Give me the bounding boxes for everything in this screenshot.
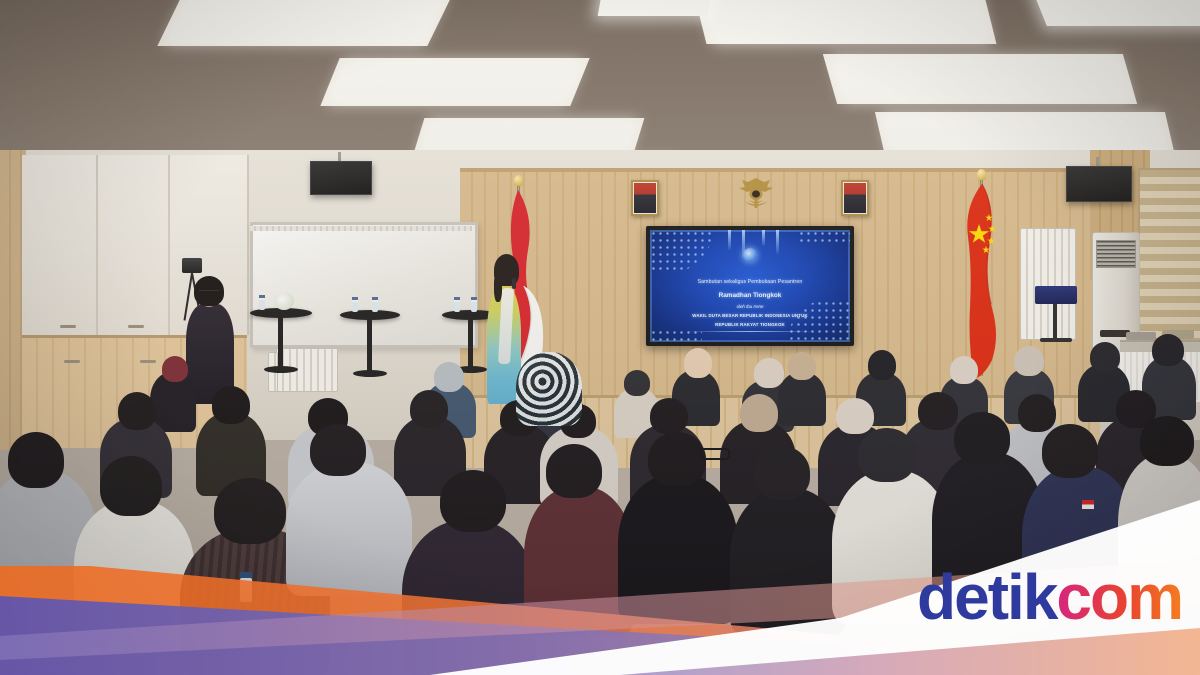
screen-text-line-2: Ramadhan Tiongkok xyxy=(650,292,850,299)
portrait-frame-left xyxy=(631,180,659,216)
screen-text-line-3: oleh Ibu Irene xyxy=(650,304,850,309)
bottle-cap xyxy=(372,297,378,300)
audience-head xyxy=(858,428,916,482)
audience-member xyxy=(402,520,536,675)
audience-head xyxy=(410,390,448,428)
audience-head xyxy=(310,424,366,476)
whiteboard[interactable] xyxy=(250,222,478,348)
cocktail-table-base xyxy=(353,370,387,377)
audience-head xyxy=(1090,342,1120,372)
water-bottle xyxy=(352,299,358,312)
ac-grille-icon xyxy=(1096,240,1136,268)
audience-head xyxy=(648,432,706,486)
audience-head xyxy=(212,386,250,424)
flagpole-finial xyxy=(514,175,523,186)
portrait-photo xyxy=(633,182,657,214)
cocktail-table-stem xyxy=(468,318,473,368)
cabinet-handle[interactable] xyxy=(64,360,80,363)
presentation-screen-bezel[interactable]: Sambutan sekaligus Pembukaan Pesantren R… xyxy=(646,226,854,346)
cabinet-handle[interactable] xyxy=(128,325,144,328)
audience-head xyxy=(754,446,810,500)
lantern-icon xyxy=(776,230,779,254)
audience-head xyxy=(162,356,188,382)
bottle-cap xyxy=(259,295,265,298)
glasses-icon xyxy=(458,508,492,520)
ceiling-light-panel xyxy=(170,0,440,40)
patterned-hijab xyxy=(516,352,582,426)
ceiling-light-panel xyxy=(837,60,1128,98)
flag-china xyxy=(962,184,1010,379)
ceiling-light-panel xyxy=(707,0,987,40)
audience-head xyxy=(100,456,162,516)
audience-member xyxy=(778,372,826,426)
audience-head xyxy=(1018,394,1056,432)
audience-head xyxy=(546,444,602,498)
audience-member xyxy=(730,488,846,636)
audience-head xyxy=(684,348,712,378)
radiator xyxy=(1020,228,1076,340)
display-stand xyxy=(1035,286,1077,304)
detikcom-logo: detikcom xyxy=(917,565,1182,629)
screen-divider xyxy=(686,331,814,332)
audience-head xyxy=(118,392,156,430)
audience-head xyxy=(1140,416,1194,466)
glasses-icon xyxy=(700,448,730,460)
audience-head xyxy=(954,412,1010,464)
flag-pin-icon xyxy=(1082,500,1094,509)
bottle-cap xyxy=(471,297,477,300)
audience-head xyxy=(1152,334,1184,366)
audience-head xyxy=(1014,346,1044,376)
ceiling-light-panel xyxy=(333,64,578,100)
water-bottle xyxy=(454,299,460,312)
bottle-cap xyxy=(240,572,252,578)
logo-text-com: com xyxy=(1056,565,1182,629)
audience-member xyxy=(74,500,194,640)
ceiling-speaker-icon xyxy=(1066,166,1132,202)
cabinet-handle[interactable] xyxy=(60,325,76,328)
audience-member xyxy=(286,462,412,596)
food-tray xyxy=(1126,332,1156,340)
presentation-screen[interactable]: Sambutan sekaligus Pembukaan Pesantren R… xyxy=(650,230,850,342)
cabinet-seam xyxy=(96,155,98,335)
screen-text-line-1: Sambutan sekaligus Pembukaan Pesantren xyxy=(650,279,850,285)
photo-canvas: Sambutan sekaligus Pembukaan Pesantren R… xyxy=(0,0,1200,675)
cabinet-seam xyxy=(168,155,170,335)
crescent-moon-icon xyxy=(743,248,757,262)
cocktail-table-base xyxy=(264,366,298,373)
bottle-cap xyxy=(352,297,358,300)
water-bottle xyxy=(240,578,252,602)
flagpole-finial xyxy=(977,169,986,180)
microphone-icon xyxy=(512,278,516,289)
display-stand-stem xyxy=(1053,304,1057,340)
glasses-icon xyxy=(199,290,219,295)
flower-decor xyxy=(274,292,294,310)
logo-text-detik: detik xyxy=(917,565,1056,629)
water-bottle xyxy=(372,299,378,312)
audience-head xyxy=(788,352,816,380)
audience-head xyxy=(434,362,464,392)
ceiling-light-panel xyxy=(886,118,1163,150)
bottle-cap xyxy=(454,297,460,300)
lantern-icon xyxy=(762,230,765,246)
portrait-frame-right xyxy=(841,180,869,216)
audience-head xyxy=(1042,424,1098,478)
ceiling-speaker-icon xyxy=(310,161,372,195)
cabinet-handle[interactable] xyxy=(140,360,156,363)
audience-head xyxy=(740,394,778,432)
garuda-pancasila-emblem xyxy=(736,176,770,206)
cocktail-table-stem xyxy=(278,316,283,368)
audience-member xyxy=(618,474,738,624)
display-stand-base xyxy=(1040,338,1072,342)
audience-head xyxy=(754,358,784,388)
audience-head xyxy=(950,356,978,384)
whiteboard-marker-tray xyxy=(250,226,472,231)
islamic-ornament-top-right xyxy=(798,230,850,243)
screen-text-line-5: REPUBLIK RAKYAT TIONGKOK xyxy=(650,322,850,327)
audience-head xyxy=(440,470,506,532)
audience-head xyxy=(214,478,286,544)
water-bottle xyxy=(471,299,477,312)
ceiling-light-panel xyxy=(598,0,713,16)
audience-head xyxy=(918,392,958,430)
cocktail-table-stem xyxy=(367,318,372,372)
audience-head xyxy=(868,350,896,380)
screen-text-line-4: WAKIL DUTA BESAR REPUBLIK INDONESIA UNTU… xyxy=(650,313,850,318)
audience-head xyxy=(836,398,874,434)
ceiling-light-panel xyxy=(1033,0,1200,26)
audience-head xyxy=(650,398,688,434)
audience-head xyxy=(624,370,650,396)
lantern-icon xyxy=(728,230,731,250)
window-blind[interactable] xyxy=(1138,168,1200,352)
water-bottle xyxy=(259,297,265,310)
audience-head xyxy=(8,432,64,488)
camera-icon xyxy=(182,258,202,273)
portrait-photo xyxy=(843,182,867,214)
